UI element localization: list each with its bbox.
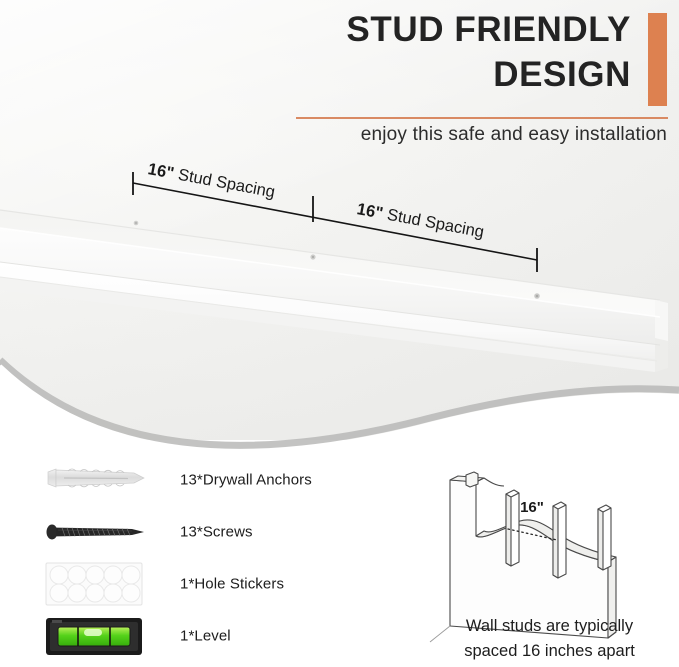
title-line-1: STUD FRIENDLY	[346, 10, 631, 49]
level-icon	[40, 610, 160, 662]
list-item-label: 1*Level	[180, 628, 231, 645]
section-divider-curve	[0, 330, 679, 460]
screw-icon	[40, 506, 160, 558]
header-divider-rule	[296, 117, 668, 119]
hole-stickers-icon	[40, 558, 160, 610]
list-item: 1*Level	[0, 610, 400, 662]
infographic-page: 16" Stud Spacing 16" Stud Spacing STUD F…	[0, 0, 679, 667]
list-item-label: 1*Hole Stickers	[180, 576, 284, 593]
page-title: STUD FRIENDLY DESIGN	[91, 8, 631, 98]
list-item: 1*Hole Stickers	[0, 558, 400, 610]
title-line-2: DESIGN	[91, 53, 631, 98]
stud-dimension-label: 16"	[520, 499, 544, 516]
drywall-anchor-icon	[40, 454, 160, 506]
list-item-label: 13*Drywall Anchors	[180, 472, 312, 489]
page-subtitle: enjoy this safe and easy installation	[67, 124, 667, 146]
caption-line-1: Wall studs are typically	[420, 614, 679, 639]
caption-line-2: spaced 16 inches apart	[420, 639, 679, 664]
stud-diagram-caption: Wall studs are typically spaced 16 inche…	[420, 614, 679, 664]
list-item-label: 13*Screws	[180, 524, 253, 541]
list-item: 13*Screws	[0, 506, 400, 558]
list-item: 13*Drywall Anchors	[0, 454, 400, 506]
accent-bar	[648, 13, 667, 106]
parts-list: 13*Drywall Anchors	[0, 448, 400, 667]
